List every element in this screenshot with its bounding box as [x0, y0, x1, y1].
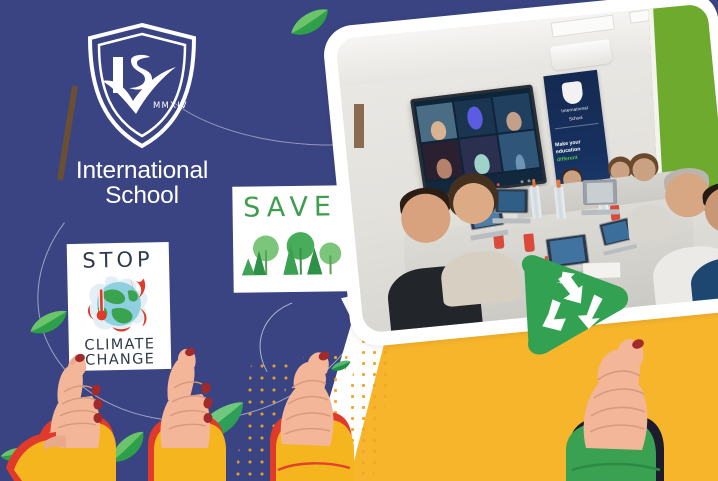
banner-divider [555, 123, 598, 129]
save-sign-board: SAVE [232, 185, 348, 293]
hand-holding-save-pole [256, 330, 362, 481]
video-tile [460, 135, 501, 176]
svg-text:MMXIV: MMXIV [153, 101, 188, 111]
logo-wordmark: International School [62, 158, 222, 208]
save-protest-sign: SAVE [232, 185, 348, 293]
video-tile [498, 131, 539, 172]
banner-shield-icon [562, 81, 584, 105]
video-tile [416, 102, 457, 143]
laptop [583, 179, 618, 215]
logo-year: MMXIV [202, 22, 203, 23]
save-sign-text: SAVE [238, 193, 341, 221]
hand-holding-recycle-pole [556, 322, 672, 481]
person-foreground-left2 [451, 179, 504, 306]
video-call-grid [416, 93, 539, 181]
sleeve-bottom-left [0, 430, 68, 481]
cup [523, 234, 534, 253]
video-tile [492, 93, 533, 134]
laptop [494, 188, 528, 224]
video-tile [422, 140, 463, 181]
logo-initials: IS [202, 22, 203, 23]
school-logo: MMXIV IS MMXIV International School [62, 22, 222, 212]
stop-sign-headline: STOP [82, 249, 154, 271]
logo-name-line1: International [62, 158, 222, 183]
forest-illustration [239, 223, 343, 282]
hand-right-holding-sign [142, 326, 234, 481]
poster-canvas: MMXIV IS MMXIV International School [0, 0, 718, 481]
person-right-seated [632, 157, 662, 241]
logo-name-line2: School [62, 183, 222, 208]
video-tile [454, 97, 495, 138]
save-sign-pole [354, 104, 364, 148]
shield-icon: MMXIV IS MMXIV [82, 22, 202, 150]
